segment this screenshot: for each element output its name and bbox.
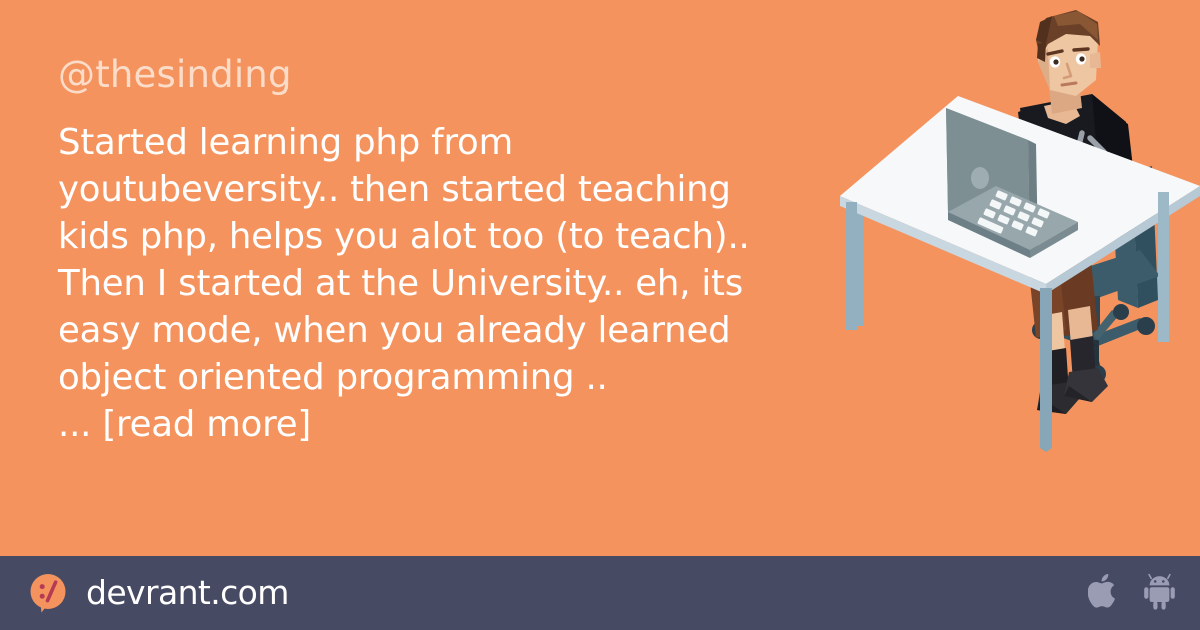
app-store-badges xyxy=(1088,556,1176,630)
brand-link[interactable]: devrant.com xyxy=(26,556,289,630)
rant-line: object oriented programming .. xyxy=(58,354,828,401)
devrant-social-card: @thesinding Started learning php from yo… xyxy=(0,0,1200,630)
rant-line: kids php, helps you alot too (to teach).… xyxy=(58,213,828,260)
footer-bar: devrant.com xyxy=(0,556,1200,630)
rant-line: Started learning php from xyxy=(58,119,828,166)
rant-content: @thesinding Started learning php from yo… xyxy=(58,56,828,448)
android-icon[interactable] xyxy=(1143,572,1176,614)
rant-line: Then I started at the University.. eh, i… xyxy=(58,260,828,307)
read-more-link[interactable]: ... [read more] xyxy=(58,401,828,448)
site-wordmark: devrant.com xyxy=(86,576,289,609)
rant-line: youtubeversity.. then started teaching xyxy=(58,166,828,213)
apple-icon[interactable] xyxy=(1088,572,1121,614)
devrant-logo-icon xyxy=(26,571,70,615)
rant-text: Started learning php from youtubeversity… xyxy=(58,119,828,448)
developer-at-desk-illustration xyxy=(840,0,1200,560)
user-handle[interactable]: @thesinding xyxy=(58,56,828,93)
rant-line: easy mode, when you already learned xyxy=(58,307,828,354)
